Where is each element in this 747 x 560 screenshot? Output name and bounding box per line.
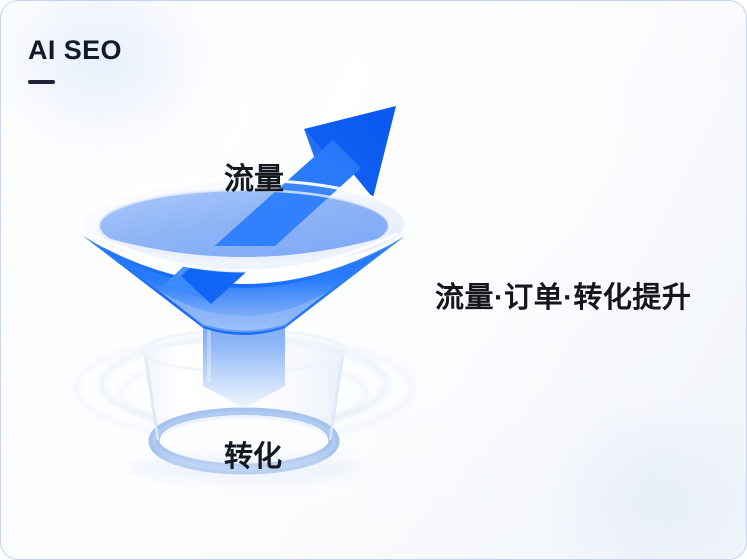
seo-promo-card: AI SEO 流量·订单·转化提升 (0, 0, 747, 560)
tagline-text: 流量·订单·转化提升 (435, 274, 691, 316)
card-tint-bottom-right (496, 359, 747, 560)
page-title: AI SEO (28, 37, 122, 64)
card-header: AI SEO (28, 37, 122, 84)
title-underline-rule (28, 80, 55, 84)
funnel-label-traffic: 流量 (224, 154, 284, 198)
funnel-label-conversion: 转化 (224, 433, 282, 475)
